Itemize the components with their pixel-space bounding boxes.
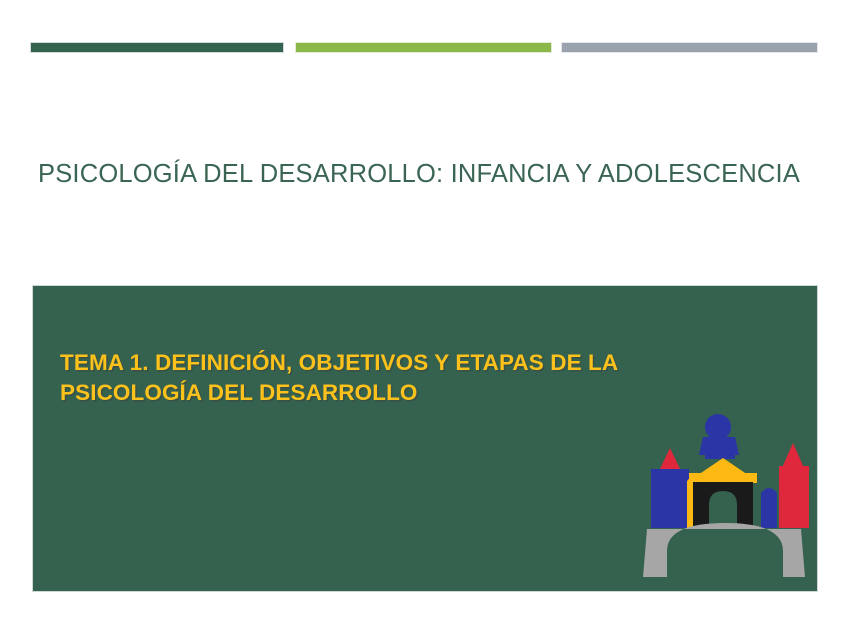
right-red-tower: [779, 466, 809, 528]
blue-figure-top: [699, 414, 739, 459]
black-arch-gate: [693, 482, 753, 528]
left-blue-tower: [651, 469, 689, 528]
gray-bridge-base: [643, 523, 805, 577]
decor-bar-light-green: [295, 42, 552, 53]
small-blue-block: [761, 488, 777, 528]
panel-heading: TEMA 1. DEFINICIÓN, OBJETIVOS Y ETAPAS D…: [60, 348, 760, 408]
yellow-roof: [689, 458, 757, 483]
presentation-slide: PSICOLOGÍA DEL DESARROLLO: INFANCIA Y AD…: [0, 0, 848, 636]
slide-title: PSICOLOGÍA DEL DESARROLLO: INFANCIA Y AD…: [38, 160, 808, 189]
panel-heading-line-2: PSICOLOGÍA DEL DESARROLLO: [60, 378, 760, 408]
castle-blocks-illustration: [633, 411, 813, 586]
right-red-cone: [781, 443, 805, 470]
decor-bar-dark-green: [30, 42, 284, 53]
content-panel: TEMA 1. DEFINICIÓN, OBJETIVOS Y ETAPAS D…: [32, 285, 818, 592]
panel-heading-line-1: TEMA 1. DEFINICIÓN, OBJETIVOS Y ETAPAS D…: [60, 348, 760, 378]
decor-bar-gray: [561, 42, 818, 53]
